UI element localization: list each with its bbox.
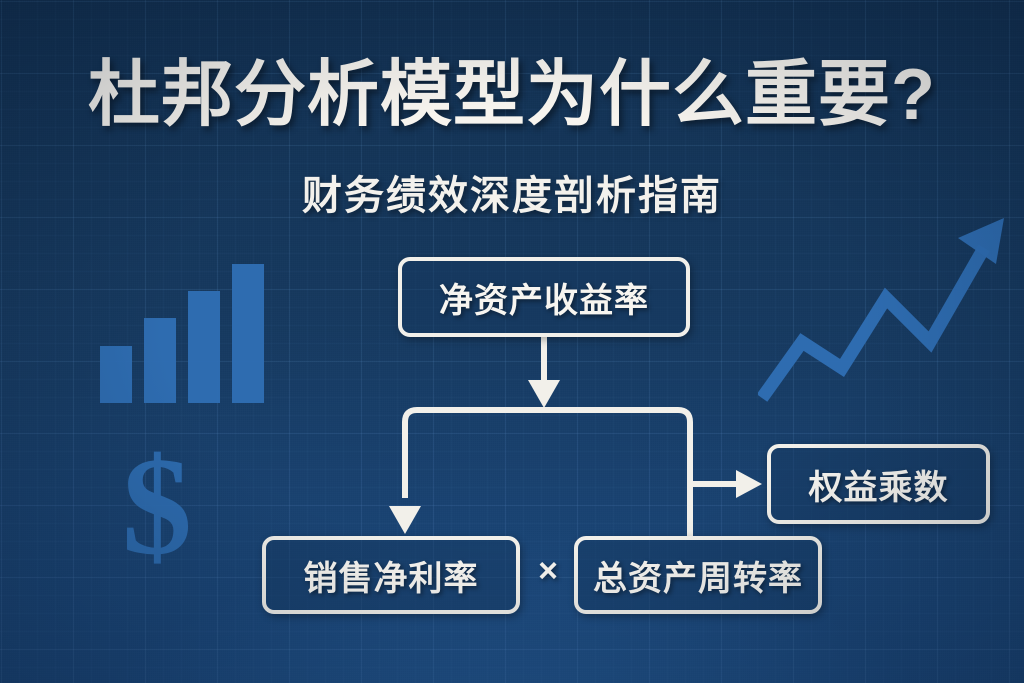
multiply-operator: × [528,552,568,591]
node-total-asset-turnover[interactable]: 总资产周转率 [574,536,822,614]
page-subtitle: 财务绩效深度剖析指南 [0,163,1024,221]
bar-chart-icon [96,258,276,408]
infographic-canvas: $ 净资产收益率 销售净利率 总资产周转率 权益乘数 × 杜邦 [0,0,1024,683]
dollar-sign-icon: $ [122,437,192,577]
node-roe[interactable]: 净资产收益率 [398,257,690,337]
upward-trend-arrow-icon [758,212,1016,422]
node-net-profit-margin[interactable]: 销售净利率 [262,536,520,614]
node-equity-multiplier[interactable]: 权益乘数 [767,444,990,524]
page-title: 杜邦分析模型为什么重要? [0,58,1024,133]
